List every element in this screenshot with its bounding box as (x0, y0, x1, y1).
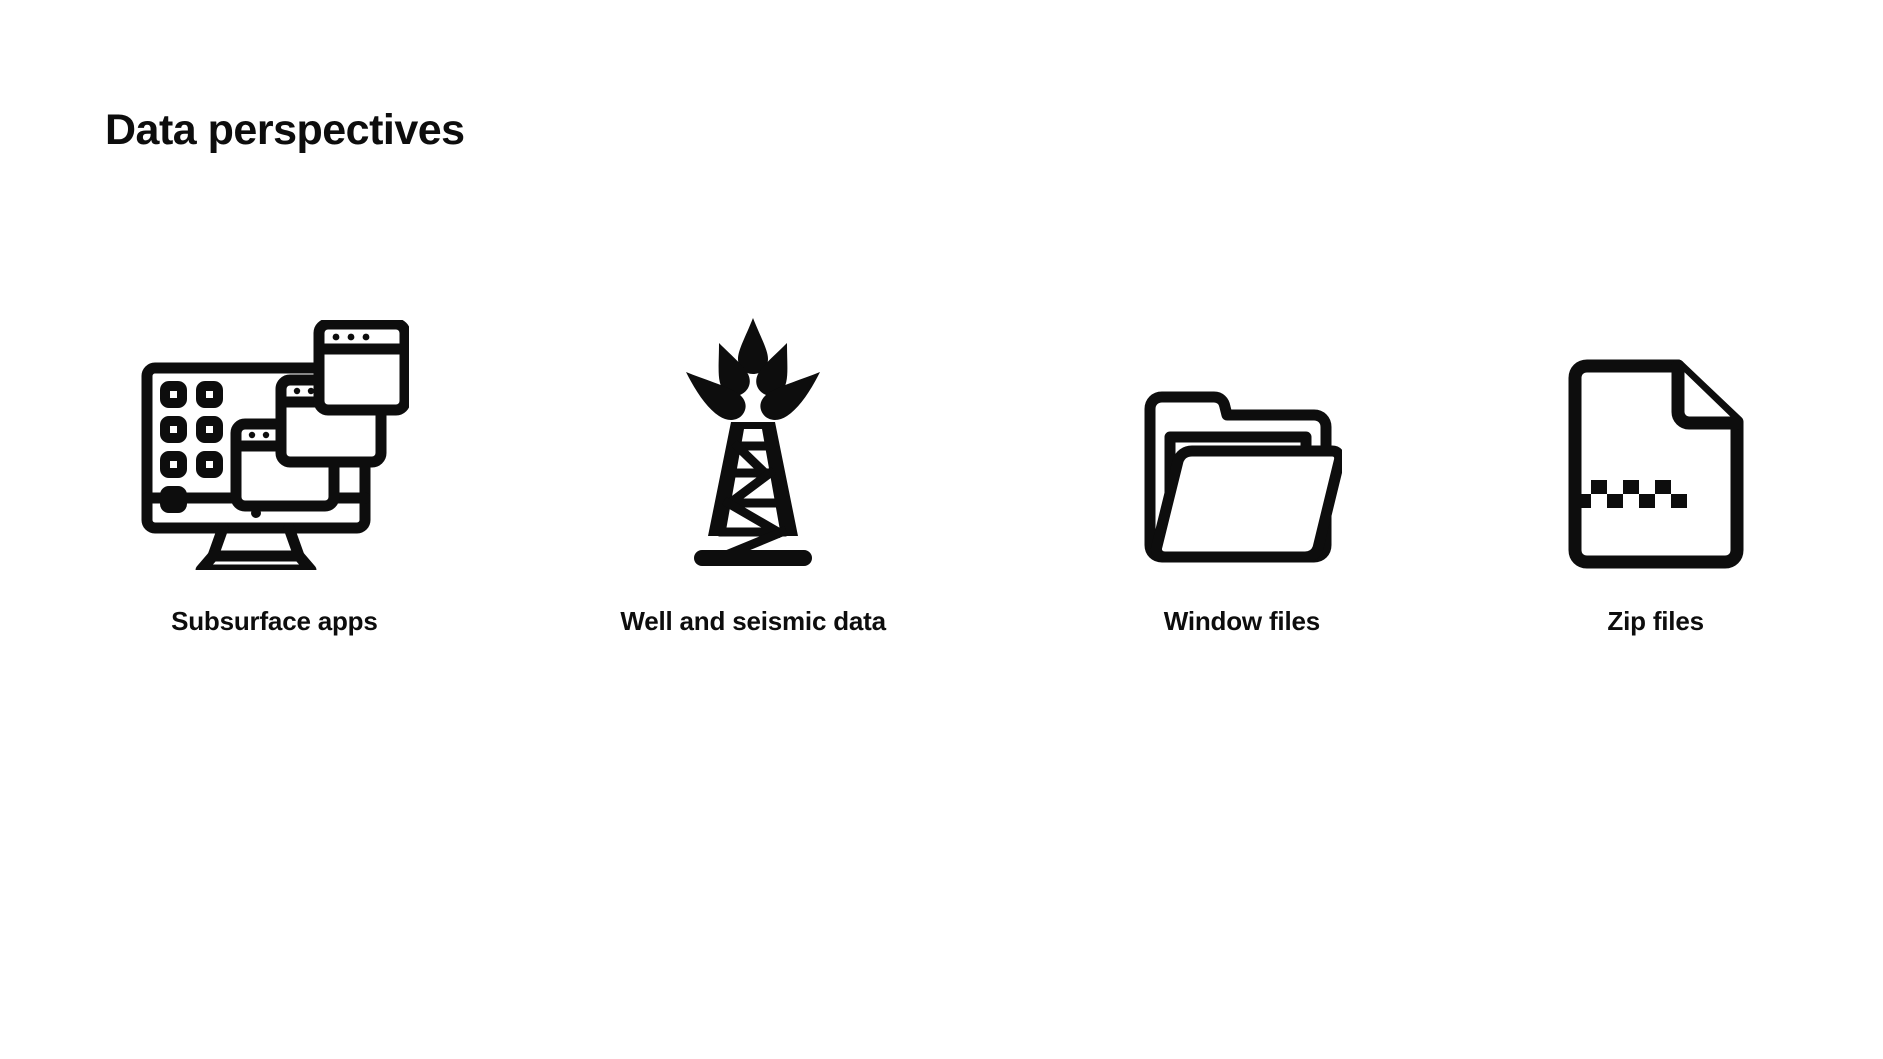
data-perspectives-row: Subsurface apps (90, 250, 1820, 637)
card-label-zip-files: Zip files (1607, 606, 1703, 637)
perspective-card-window-files[interactable]: Window files (1078, 250, 1407, 637)
card-label-well-seismic-data: Well and seismic data (620, 606, 886, 637)
page-title: Data perspectives (105, 106, 465, 155)
icon-container (1142, 250, 1342, 570)
zip-document-icon (1566, 358, 1746, 570)
oil-derrick-icon (678, 310, 828, 570)
card-label-subsurface-apps: Subsurface apps (171, 606, 378, 637)
icon-container (1566, 250, 1746, 570)
icon-container (139, 250, 409, 570)
open-folder-icon (1142, 385, 1342, 570)
perspective-card-well-seismic-data[interactable]: Well and seismic data (589, 250, 918, 637)
card-label-window-files: Window files (1164, 606, 1320, 637)
app-window-large-back (319, 324, 405, 410)
slide-canvas: Data perspectives (0, 0, 1883, 1059)
perspective-card-subsurface-apps[interactable]: Subsurface apps (110, 250, 439, 637)
perspective-card-zip-files[interactable]: Zip files (1491, 250, 1820, 637)
monitor-apps-windows-icon (139, 320, 409, 570)
icon-container (678, 250, 828, 570)
